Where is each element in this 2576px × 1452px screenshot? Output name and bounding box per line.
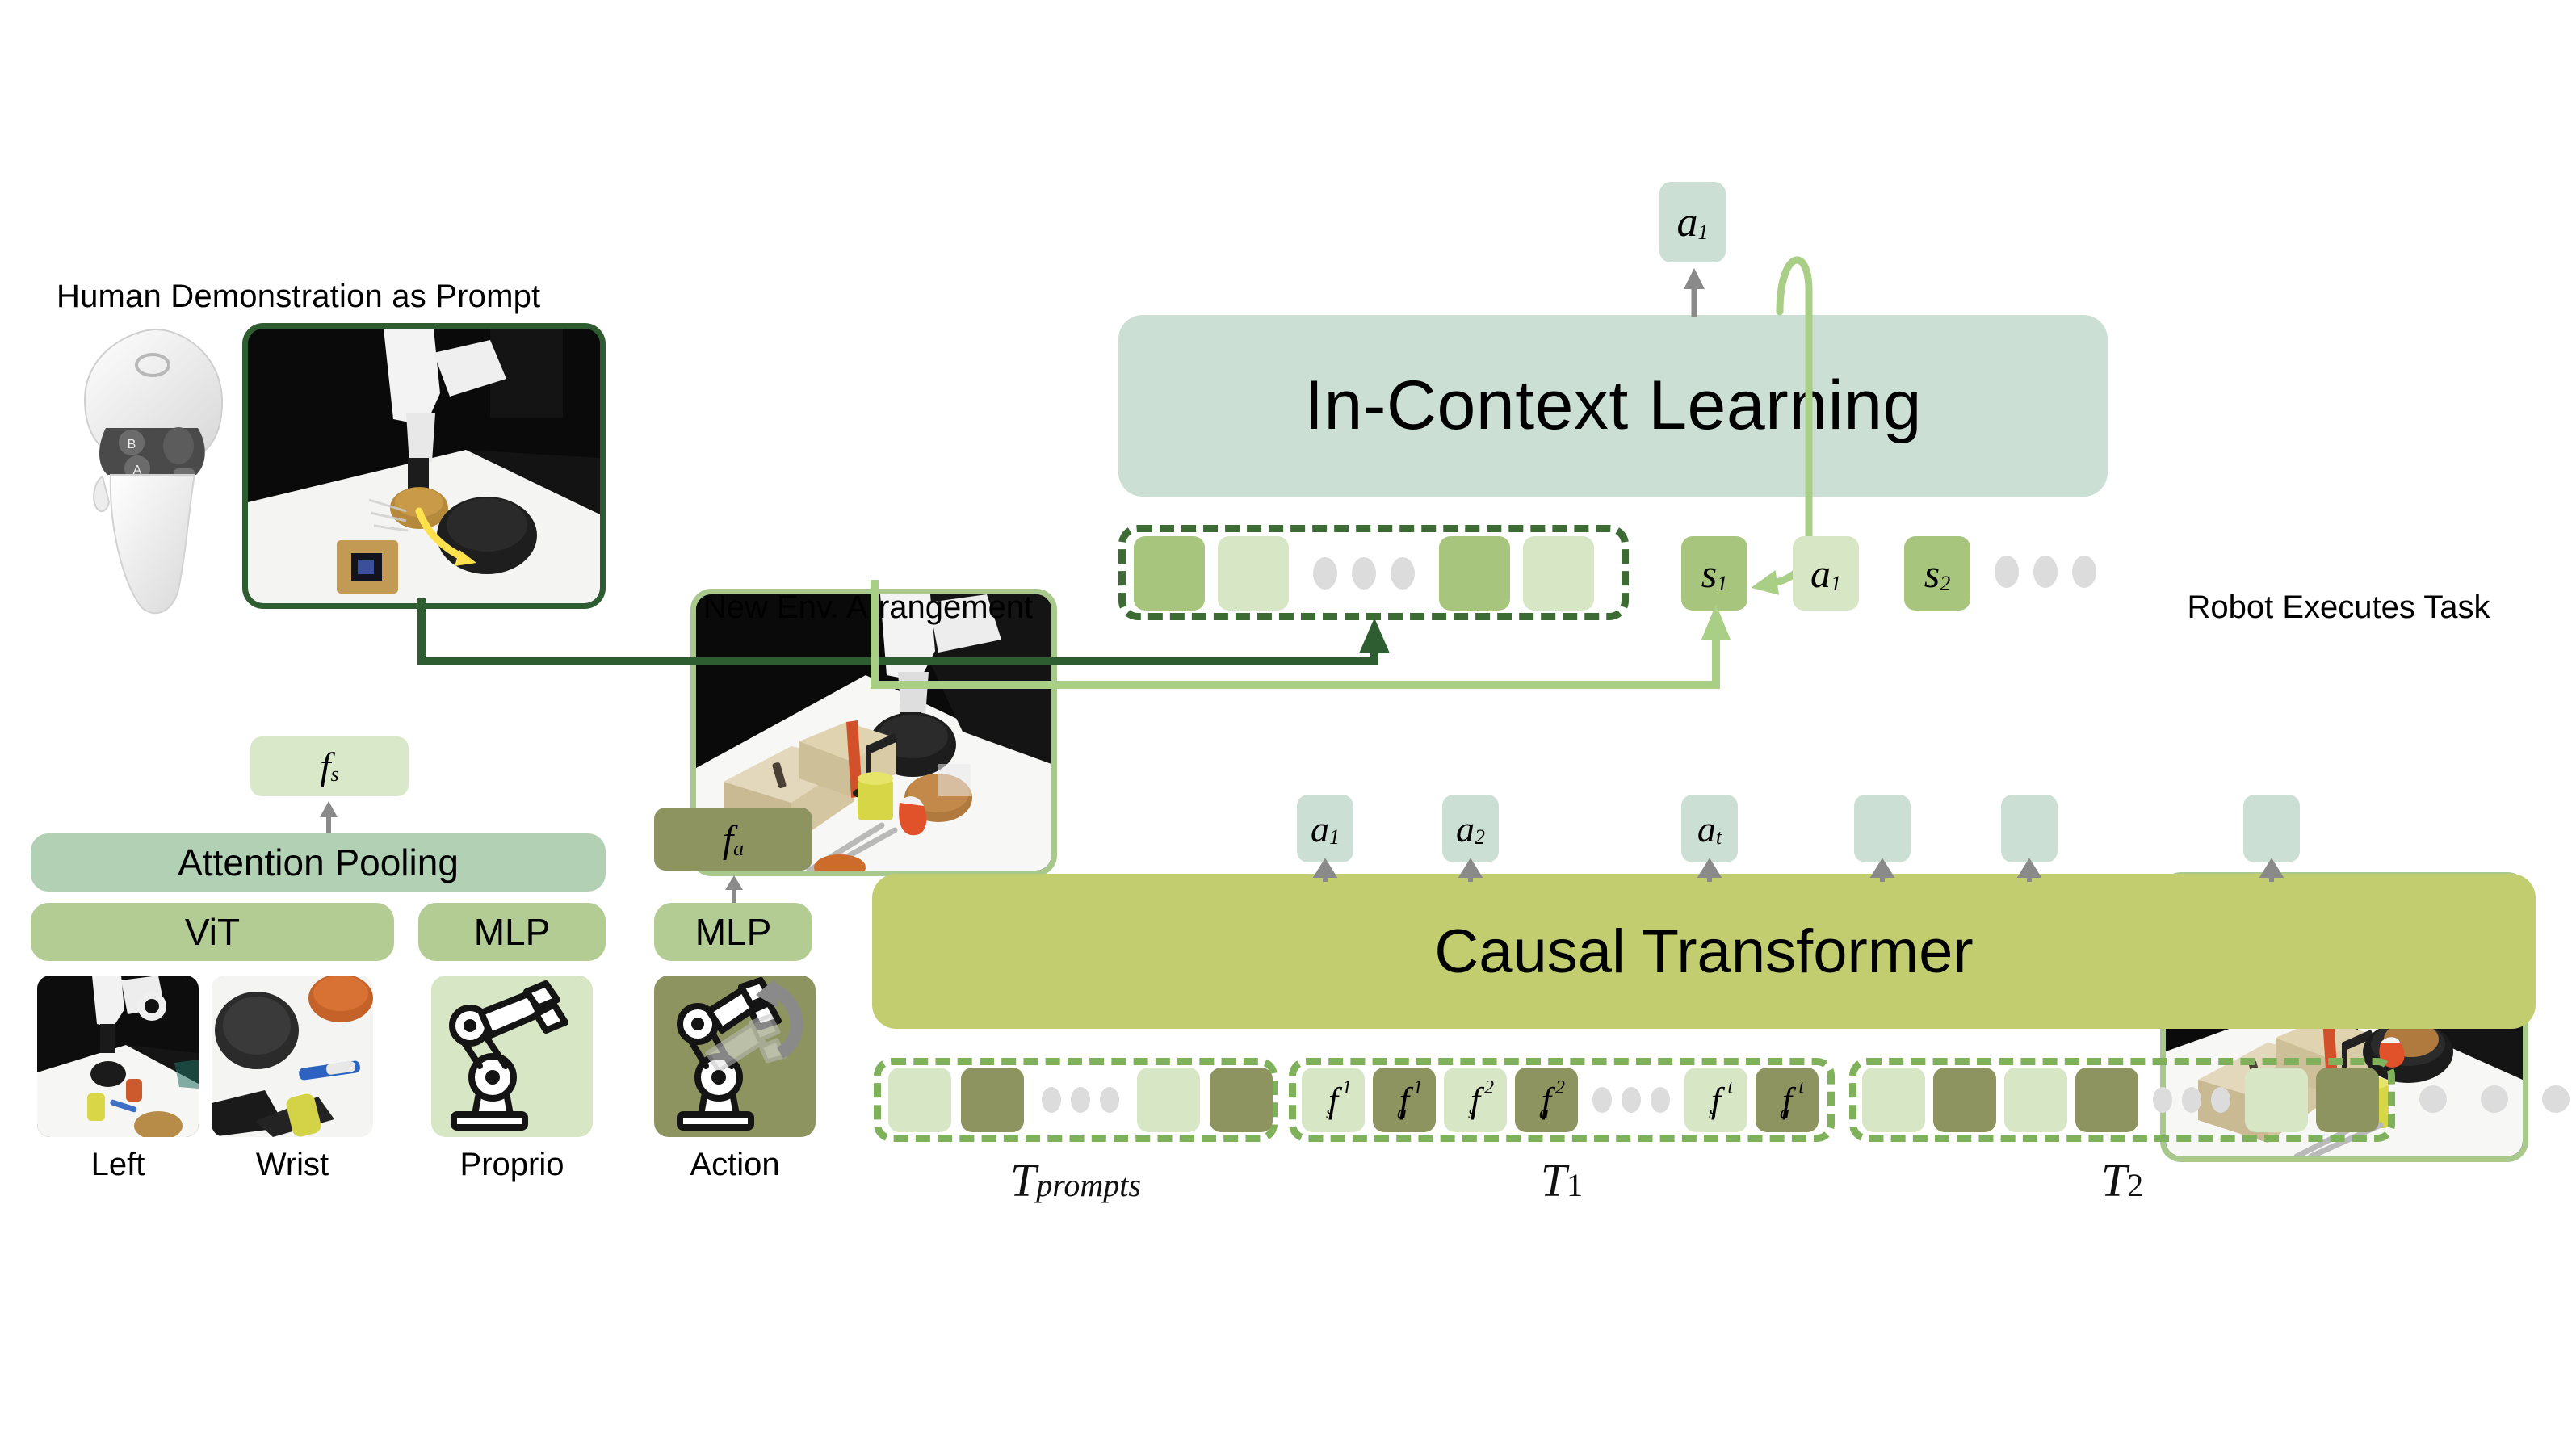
tau-prompts-caption: Tprompts — [874, 1153, 1278, 1207]
tau-1-token-fa1-sup: 1 — [1413, 1077, 1423, 1099]
tau-1-caption: T1 — [1289, 1153, 1835, 1207]
transformer-output-4 — [1854, 795, 1911, 862]
tau-1-token-fst: f t s — [1684, 1068, 1747, 1132]
in-context-learning-block: In-Context Learning — [1118, 315, 2108, 497]
tau-1-token-fs2-sub: s — [1468, 1102, 1475, 1124]
tau-prompts-ellipsis — [1042, 1087, 1119, 1113]
ellipsis-dot — [2072, 556, 2096, 588]
transformer-output-1: a1 — [1297, 795, 1353, 862]
icl-state-token-2-sub: 2 — [1940, 572, 1950, 596]
tau-1-subscript: 1 — [1567, 1167, 1583, 1203]
ellipsis-dot — [2182, 1087, 2201, 1113]
tau-1-token-fs1-sub: s — [1326, 1102, 1333, 1124]
proprio-tile — [431, 976, 593, 1137]
tau-1-token-fs2-sup: 2 — [1484, 1077, 1494, 1099]
tau-1-token-fa1-sub: a — [1397, 1102, 1407, 1124]
tau-2-ellipsis — [2153, 1087, 2230, 1113]
tau-prompts-token-2 — [961, 1068, 1024, 1132]
tau-2-token-5 — [2245, 1068, 2308, 1132]
action-caption: Action — [654, 1147, 816, 1183]
tau-2-token-6 — [2316, 1068, 2379, 1132]
attention-pooling-label: Attention Pooling — [178, 841, 459, 884]
icl-state-token-2-base: s — [1924, 550, 1940, 597]
transformer-output-1-sub: 1 — [1329, 825, 1340, 850]
mlp-action-label: MLP — [695, 910, 772, 954]
state-feature-sub: s — [331, 762, 339, 787]
ellipsis-dot — [1651, 1087, 1670, 1113]
left-camera-caption: Left — [37, 1147, 199, 1183]
icl-sequence-trailing-ellipsis — [1995, 556, 2096, 588]
tau-1-token-fat: f t a — [1756, 1068, 1819, 1132]
tau-1-token-fa2-sup: 2 — [1555, 1077, 1565, 1099]
mlp-action-bar: MLP — [654, 903, 812, 961]
action-feature-token: fa — [654, 808, 812, 871]
vit-bar: ViT — [31, 903, 394, 961]
transformer-output-2-sub: 2 — [1475, 825, 1485, 850]
tau-2-tokens — [1862, 1068, 2379, 1132]
mlp-proprio-bar: MLP — [418, 903, 606, 961]
icl-state-token-2: s2 — [1904, 536, 1970, 611]
transformer-output-1-base: a — [1311, 808, 1329, 850]
tau-prompts-token-1 — [888, 1068, 951, 1132]
human-demo-photo — [242, 323, 606, 609]
transformer-output-2-base: a — [1456, 808, 1475, 850]
transformer-output-arrows — [872, 862, 2536, 883]
pooling-to-fs-arrow — [315, 799, 342, 835]
icl-action-token-1: a1 — [1793, 536, 1859, 611]
tau-1-token-fs1-sup: 1 — [1342, 1077, 1352, 1099]
ellipsis-dot — [1622, 1087, 1641, 1113]
causal-transformer-label: Causal Transformer — [1434, 917, 1973, 987]
ellipsis-dot — [1042, 1087, 1061, 1113]
tau-prompts-subscript: prompts — [1036, 1167, 1141, 1203]
transformer-trailing-ellipsis — [2419, 1085, 2570, 1113]
vit-label: ViT — [185, 910, 240, 954]
tau-1-tokens: f 1 s f 1 a f 2 s f 2 a f t s f t a — [1302, 1068, 1819, 1132]
transformer-output-3-base: a — [1697, 808, 1716, 850]
icl-action-token-1-base: a — [1810, 550, 1831, 597]
ellipsis-dot — [2419, 1085, 2447, 1113]
tau-2-caption: T2 — [1849, 1153, 2395, 1207]
tau-2-token-3 — [2004, 1068, 2067, 1132]
svg-text:B: B — [128, 438, 136, 451]
transformer-output-2: a2 — [1442, 795, 1499, 862]
ellipsis-dot — [1592, 1087, 1612, 1113]
human-demo-label: Human Demonstration as Prompt — [57, 279, 540, 315]
action-tile — [654, 976, 816, 1137]
tau-1-token-fa2-sub: a — [1539, 1102, 1549, 1124]
action-feature-sub: a — [733, 837, 744, 861]
ellipsis-dot — [2481, 1085, 2508, 1113]
tau-2-token-1 — [1862, 1068, 1925, 1132]
tau-1-token-fat-sup: t — [1798, 1077, 1804, 1099]
tau-prompts-token-4 — [1210, 1068, 1273, 1132]
tau-1-token-fst-sup: t — [1727, 1077, 1733, 1099]
causal-transformer-block: Causal Transformer — [872, 874, 2536, 1029]
tau-1-token-fst-sub: s — [1709, 1102, 1716, 1124]
robot-executes-label: Robot Executes Task — [2160, 590, 2517, 626]
transformer-output-3-sub: t — [1716, 825, 1722, 850]
ellipsis-dot — [2542, 1085, 2570, 1113]
transformer-output-3: at — [1681, 795, 1738, 862]
wrist-camera-thumb — [212, 976, 373, 1137]
action-feature-base: f — [723, 817, 733, 862]
tau-1-token-fa2: f 2 a — [1515, 1068, 1578, 1132]
tau-2-token-4 — [2075, 1068, 2138, 1132]
attention-pooling-bar: Attention Pooling — [31, 833, 606, 892]
tau-prompts-tokens — [888, 1068, 1273, 1132]
tau-2-symbol: T — [2101, 1154, 2127, 1207]
transformer-output-6 — [2243, 795, 2300, 862]
wrist-camera-caption: Wrist — [212, 1147, 373, 1183]
tau-prompts-token-3 — [1137, 1068, 1200, 1132]
vr-controller-icon: B A — [61, 323, 246, 622]
ellipsis-dot — [1100, 1087, 1119, 1113]
tau-1-token-fat-sub: a — [1780, 1102, 1789, 1124]
tau-1-token-fs1: f 1 s — [1302, 1068, 1365, 1132]
newenv-to-state-connector — [860, 580, 1740, 711]
ellipsis-dot — [2211, 1087, 2230, 1113]
tau-1-ellipsis — [1592, 1087, 1670, 1113]
tau-1-token-fa1: f 1 a — [1373, 1068, 1436, 1132]
tau-prompts-symbol: T — [1010, 1154, 1036, 1207]
state-feature-token: fs — [250, 736, 409, 796]
ellipsis-dot — [2033, 556, 2058, 588]
mlp-proprio-label: MLP — [474, 910, 551, 954]
left-camera-thumb — [37, 976, 199, 1137]
ellipsis-dot — [1071, 1087, 1090, 1113]
tau-2-subscript: 2 — [2127, 1167, 2143, 1203]
icl-action-token-1-sub: 1 — [1831, 572, 1841, 596]
transformer-output-5 — [2001, 795, 2058, 862]
proprio-caption: Proprio — [431, 1147, 593, 1183]
tau-1-symbol: T — [1541, 1154, 1567, 1207]
ellipsis-dot — [2153, 1087, 2172, 1113]
mlp-to-fa-arrow — [720, 874, 748, 906]
tau-2-token-2 — [1933, 1068, 1996, 1132]
state-feature-base: f — [320, 745, 330, 789]
ellipsis-dot — [1995, 556, 2019, 588]
tau-1-token-fs2: f 2 s — [1444, 1068, 1507, 1132]
